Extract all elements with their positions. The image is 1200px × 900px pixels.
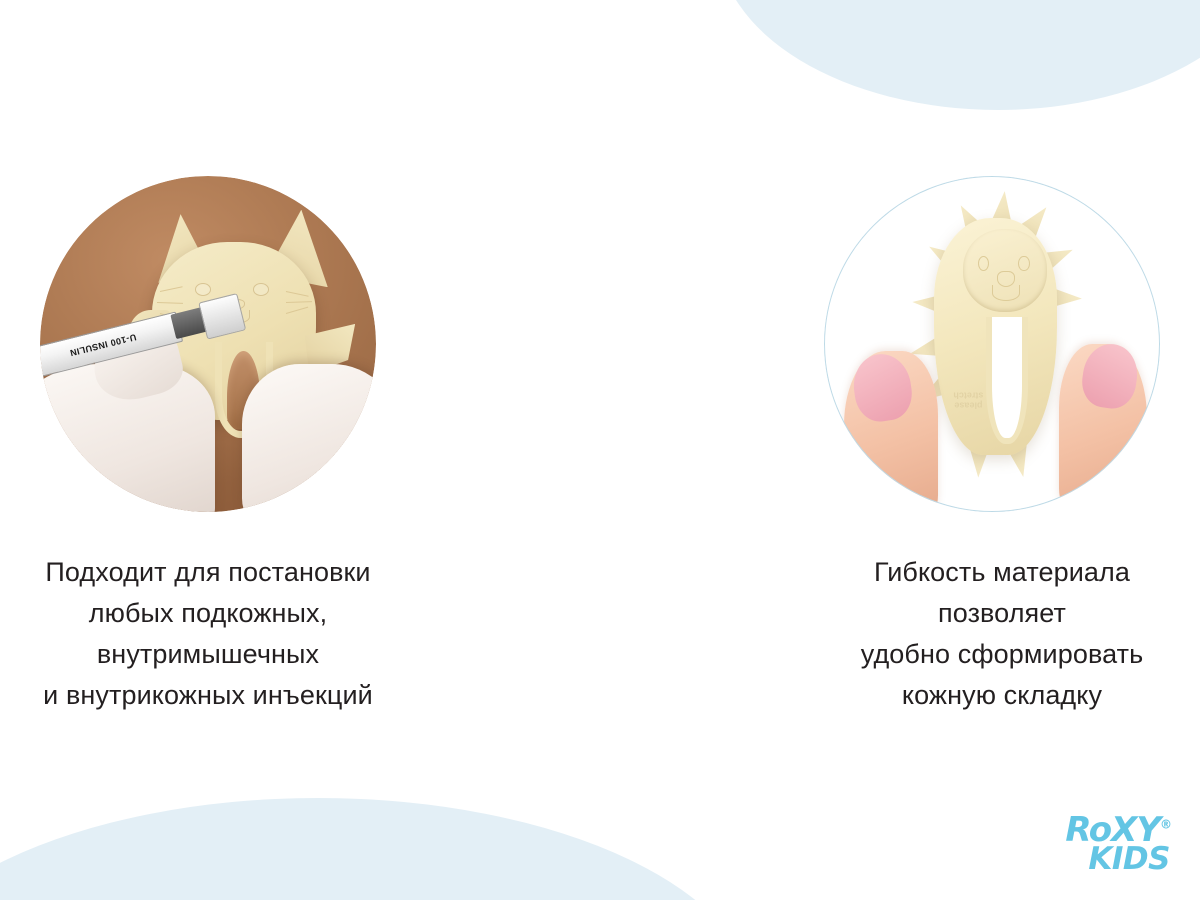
feature-injection-use: U-100 INSULIN Подходит для постановки лю…: [0, 0, 400, 900]
brand-logo-top: RoXY®: [1065, 816, 1172, 845]
brand-logo-roxy-text: RoXY: [1065, 810, 1160, 850]
registered-trademark-icon: ®: [1160, 818, 1172, 832]
promo-slide: U-100 INSULIN Подходит для постановки лю…: [0, 0, 1200, 900]
scene-injection: U-100 INSULIN: [40, 176, 376, 512]
cat-eye-left: [195, 283, 211, 296]
cat-eye-right: [253, 283, 269, 296]
gloved-hand-right: [242, 364, 376, 512]
feature-caption: Подходит для постановки любых подкожных,…: [8, 552, 408, 716]
brand-logo: RoXY® KIDS: [1065, 816, 1172, 872]
feature-usage-places: Может использоваться в домашних условиях…: [800, 0, 1200, 900]
feature-columns: U-100 INSULIN Подходит для постановки лю…: [0, 0, 1200, 900]
feature-material-flexibility: please stretch Гибкость материала позвол…: [400, 0, 800, 900]
photo-injection-use-inner: U-100 INSULIN: [40, 176, 376, 512]
photo-injection-use: U-100 INSULIN: [40, 176, 376, 512]
